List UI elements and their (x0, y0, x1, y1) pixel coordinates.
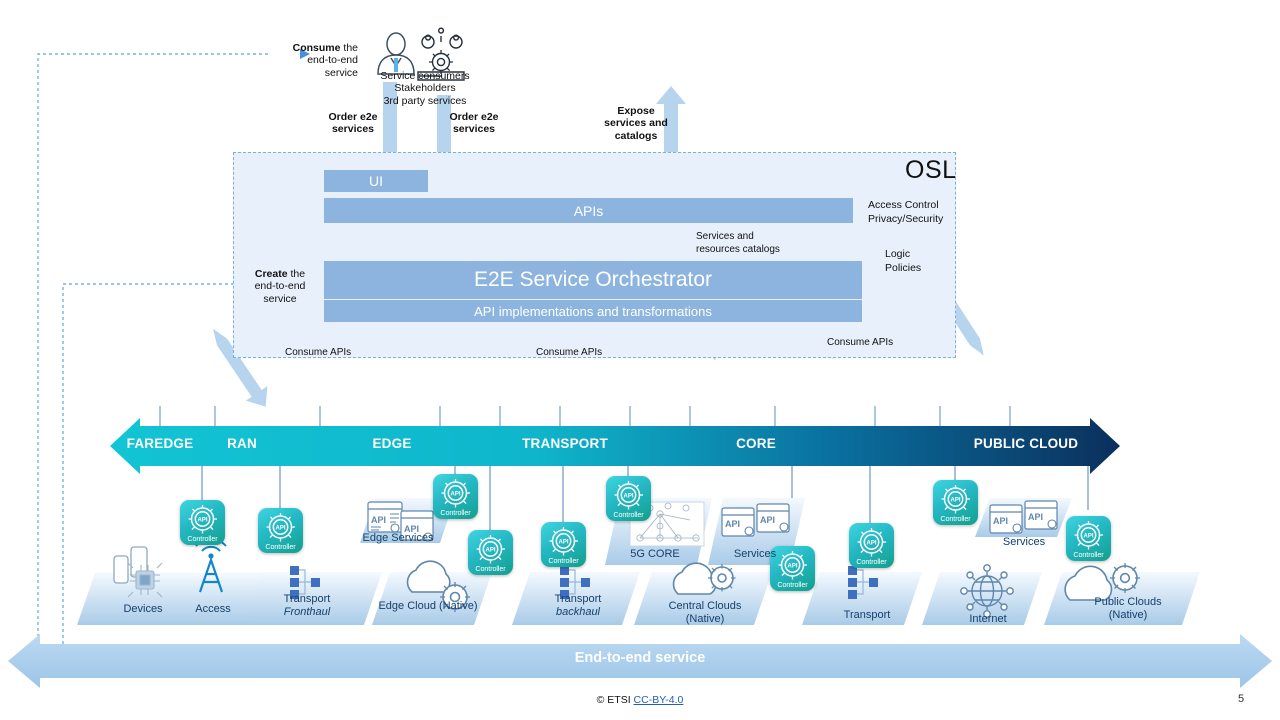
svg-text:API: API (485, 548, 495, 554)
order-e2e-right-label: Order e2e services (443, 111, 505, 136)
controller-label: Controller (770, 580, 815, 589)
controller-label: Controller (541, 556, 586, 565)
controller-label: Controller (468, 564, 513, 573)
end-to-end-service-label: End-to-end service (0, 650, 1280, 667)
svg-text:API: API (1028, 512, 1043, 522)
tile-label-access: Access (180, 603, 246, 616)
controller-label: Controller (933, 514, 978, 523)
controller-label: Controller (606, 510, 651, 519)
banner-segment-core[interactable]: CORE (712, 436, 800, 451)
controller-chip[interactable]: API Controller (180, 500, 225, 545)
service-consumer-person-icon (378, 33, 414, 74)
svg-text:API: API (993, 516, 1008, 526)
controller-chip[interactable]: API Controller (849, 523, 894, 568)
banner-segment-ran[interactable]: RAN (208, 436, 276, 451)
controller-chip[interactable]: API Controller (258, 508, 303, 553)
controller-label: Controller (180, 534, 225, 543)
tile-label-edge-cloud: Edge Cloud (Native) (376, 600, 480, 613)
svg-text:API: API (623, 494, 633, 500)
banner-segment-transport[interactable]: TRANSPORT (505, 436, 625, 451)
tile-label-transport: Transport (822, 609, 912, 622)
svg-text:API: API (725, 519, 740, 529)
service-tile-label-edge-services: Edge Services (360, 532, 436, 545)
tile-label-public-clouds: Public Clouds (Native) (1078, 596, 1178, 623)
tile-label-devices: Devices (106, 603, 180, 616)
tile-label-central-clouds: Central Clouds (Native) (652, 600, 758, 627)
controller-label: Controller (258, 542, 303, 551)
service-tile-label-services: Services (978, 536, 1070, 549)
controller-chip[interactable]: API Controller (433, 474, 478, 519)
controller-label: Controller (1066, 550, 1111, 559)
tile-label-internet: Internet (944, 613, 1032, 626)
cloud-gear-icon (1065, 563, 1140, 600)
banner-segment-edge[interactable]: EDGE (352, 436, 432, 451)
svg-text:API: API (950, 498, 960, 504)
mobile-devices-chip-icon (114, 547, 147, 583)
radio-tower-antenna-icon (196, 539, 226, 592)
logic-policies-label: Logic Policies (885, 247, 945, 275)
ui-bar[interactable]: UI (324, 170, 428, 192)
controller-label: Controller (433, 508, 478, 517)
apis-bar[interactable]: APIs (324, 198, 853, 223)
osl-title: OSL (905, 156, 957, 186)
controller-label: Controller (849, 557, 894, 566)
banner-segment-public-cloud[interactable]: PUBLIC CLOUD (952, 436, 1100, 451)
tile-label-transport-backhaul: Transport backhaul (532, 593, 624, 620)
consume-apis-label: Consume APIs (827, 337, 893, 348)
svg-text:API: API (760, 515, 775, 525)
consume-apis-label: Consume APIs (536, 347, 602, 358)
api-windows-icon (990, 501, 1057, 533)
api-implementations-bar[interactable]: API implementations and transformations (324, 300, 862, 322)
banner-segment-faredge[interactable]: FAREDGE (124, 436, 196, 451)
create-e2e-annotation: Create the end-to-end service (242, 268, 318, 305)
consume-apis-label: Consume APIs (285, 347, 351, 358)
svg-text:API: API (197, 518, 207, 524)
controller-chip[interactable]: API Controller (606, 476, 651, 521)
svg-text:API: API (1083, 534, 1093, 540)
service-consumers-caption: Service consumers Stakeholders 3rd party… (350, 70, 500, 107)
svg-text:API: API (450, 492, 460, 498)
globe-network-icon (961, 565, 1013, 617)
service-tile-label-services: Services (710, 548, 800, 561)
consume-e2e-annotation: Consume the end-to-end service (248, 42, 358, 79)
cloud-gear-icon (674, 563, 736, 594)
svg-text:API: API (866, 541, 876, 547)
svg-text:API: API (558, 540, 568, 546)
access-control-label: Access Control Privacy/Security (868, 198, 963, 226)
footer-copyright: © ETSI CC-BY-4.0 (0, 694, 1280, 706)
controller-chip[interactable]: API Controller (468, 530, 513, 575)
order-e2e-left-label: Order e2e services (322, 111, 384, 136)
service-tile-label-5g-core: 5G CORE (608, 548, 702, 561)
api-windows-icon (722, 504, 789, 536)
controller-chip[interactable]: API Controller (541, 522, 586, 567)
svg-text:API: API (371, 515, 386, 525)
controller-chip[interactable]: API Controller (1066, 516, 1111, 561)
tile-label-transport-fronthaul: Transport Fronthaul (262, 593, 352, 620)
svg-text:API: API (787, 564, 797, 570)
page-number: 5 (1238, 693, 1244, 706)
expose-services-label: Expose services and catalogs (598, 105, 674, 142)
controller-chip[interactable]: API Controller (933, 480, 978, 525)
svg-text:API: API (275, 526, 285, 532)
services-catalogs-label: Services and resources catalogs (696, 230, 796, 256)
network-nodes-icon (848, 566, 878, 599)
e2e-service-orchestrator-bar[interactable]: E2E Service Orchestrator (324, 261, 862, 299)
license-link[interactable]: CC-BY-4.0 (634, 694, 684, 706)
